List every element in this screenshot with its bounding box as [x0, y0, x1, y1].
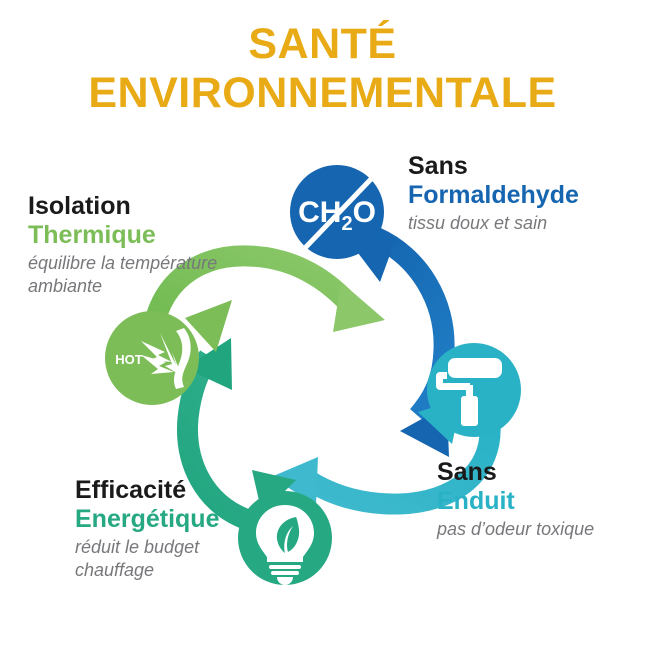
callout-enduit-heading-1: Sans: [437, 458, 642, 487]
callout-formaldehyde-heading-2: Formaldehyde: [408, 181, 643, 210]
formula-subscript: 2: [341, 213, 352, 235]
callout-energetique: Efficacité Energétique réduit le budget …: [75, 476, 295, 581]
callout-isolation: Isolation Thermique équilibre la tempéra…: [28, 192, 268, 297]
formula-base: CH: [298, 196, 341, 229]
callout-isolation-subtitle: équilibre la température ambiante: [28, 252, 268, 297]
hot-icon-label: HOT: [115, 352, 143, 367]
callout-energetique-heading-1: Efficacité: [75, 476, 295, 505]
callout-enduit: Sans Enduit pas d’odeur toxique: [437, 458, 642, 541]
callout-energetique-subtitle-line-2: chauffage: [75, 559, 295, 582]
callout-isolation-heading-1: Isolation: [28, 192, 268, 221]
callout-energetique-subtitle-line-1: réduit le budget: [75, 536, 295, 559]
callout-isolation-heading-2: Thermique: [28, 221, 268, 250]
callout-formaldehyde: Sans Formaldehyde tissu doux et sain: [408, 152, 643, 235]
callout-formaldehyde-heading-1: Sans: [408, 152, 643, 181]
callout-enduit-heading-2: Enduit: [437, 487, 642, 516]
infographic-root: SANTÉ ENVIRONNEMENTALE: [0, 0, 645, 645]
callout-enduit-subtitle: pas d’odeur toxique: [437, 518, 642, 541]
callout-formaldehyde-subtitle: tissu doux et sain: [408, 212, 643, 235]
callout-energetique-heading-2: Energétique: [75, 505, 295, 534]
formula-tail: O: [353, 196, 376, 229]
